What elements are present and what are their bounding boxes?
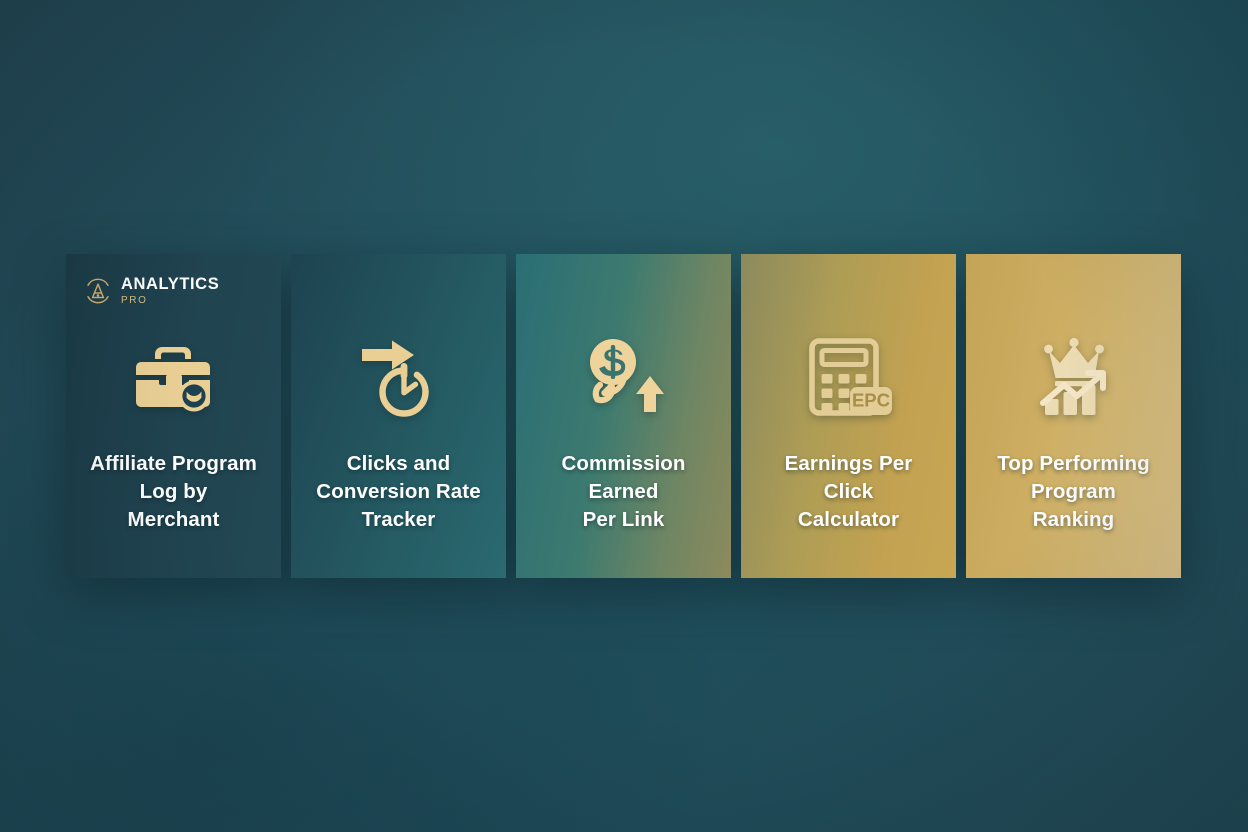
card-title: Top Performing Program Ranking — [976, 450, 1172, 534]
svg-text:EPC: EPC — [851, 390, 889, 411]
arrow-clock-timer-icon — [353, 336, 445, 418]
feature-card-clicks-and-conversion-rate-tracker[interactable]: Clicks and Conversion Rate Tracker — [291, 254, 506, 578]
feature-card-affiliate-program-log-by-merchant[interactable]: ANALYTICS PRO Affiliate Pro — [66, 254, 281, 578]
calculator-epc-icon: EPC — [803, 336, 895, 418]
feature-card-top-performing-program-ranking[interactable]: Top Performing Program Ranking — [966, 254, 1181, 578]
poster-canvas: ANALYTICS PRO Affiliate Pro — [0, 0, 1248, 832]
briefcase-check-icon — [128, 336, 220, 418]
feature-card-rail: ANALYTICS PRO Affiliate Pro — [66, 254, 1181, 578]
brand-tier: PRO — [121, 296, 219, 306]
card-title: Earnings Per Click Calculator — [751, 450, 947, 534]
analytics-a-circle-icon — [84, 277, 112, 305]
crown-bar-chart-growth-icon — [1028, 336, 1120, 418]
feature-card-earnings-per-click-calculator[interactable]: EPC Earnings Per Click Calculator — [741, 254, 956, 578]
brand-logo: ANALYTICS PRO — [84, 276, 219, 306]
feature-card-commission-earned-per-link[interactable]: Commission Earned Per Link — [516, 254, 731, 578]
brand-wordmark: ANALYTICS PRO — [121, 276, 219, 306]
card-title: Commission Earned Per Link — [526, 450, 722, 534]
brand-name: ANALYTICS — [121, 276, 219, 293]
card-title: Clicks and Conversion Rate Tracker — [301, 450, 497, 534]
card-title: Affiliate Program Log by Merchant — [76, 450, 272, 534]
dollar-coin-link-uparrow-icon — [578, 336, 670, 418]
